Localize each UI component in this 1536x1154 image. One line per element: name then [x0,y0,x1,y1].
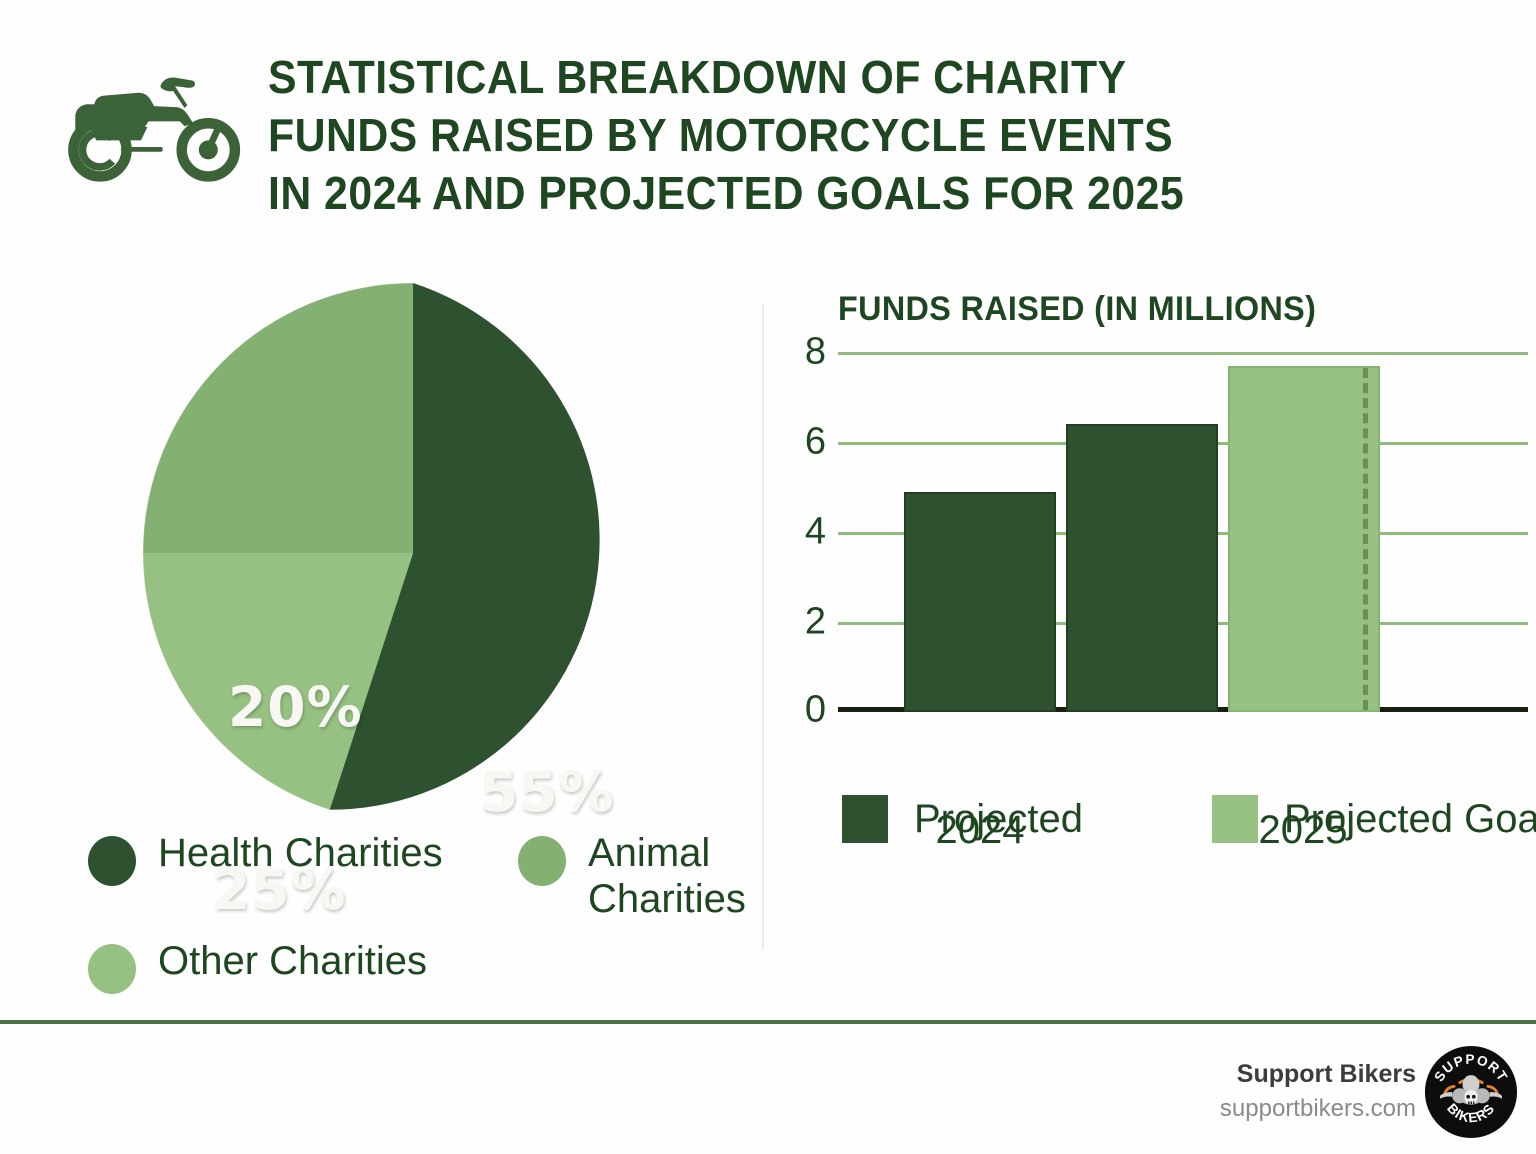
pie-legend-item-health[interactable]: Health Charities [88,830,518,922]
page-title: STATISTICAL BREAKDOWN OF CHARITY FUNDS R… [268,48,1384,222]
brand-url[interactable]: supportbikers.com [1220,1095,1416,1123]
pie-legend-item-animal[interactable]: Animal Charities [518,830,768,922]
bar-chart-panel: FUNDS RAISED (IN MILLIONS) 8 6 4 2 0 202… [762,270,1536,970]
header: STATISTICAL BREAKDOWN OF CHARITY FUNDS R… [0,0,1536,250]
bar-legend-item-projected[interactable]: Projected [842,795,1212,843]
pie-slice-label-health: 55% [480,760,615,824]
y-tick-8: 8 [805,331,826,374]
y-tick-0: 0 [805,689,826,732]
legend-swatch-other-icon [88,944,136,994]
motorcycle-icon [62,68,252,188]
pie-slice-label-animal: 20% [228,675,363,739]
pie-legend-label-other: Other Charities [158,938,427,984]
pie-legend-label-health: Health Charities [158,830,443,876]
pie-chart [143,283,683,823]
pie-legend-row-1: Health Charities Animal Charities [88,830,768,922]
brand-block: Support Bikers supportbikers.com [1220,1060,1416,1123]
bar-2025-projected-goal[interactable] [1228,366,1380,712]
pie-legend: Health Charities Animal Charities Other … [88,830,768,994]
bar-legend-item-projected-goal[interactable]: Projected Goal [1212,795,1536,843]
brand-name: Support Bikers [1220,1060,1416,1089]
y-tick-6: 6 [805,421,826,464]
pie-legend-item-other[interactable]: Other Charities [88,938,518,994]
pie-legend-row-2: Other Charities [88,938,768,994]
legend-swatch-projected-icon [842,795,888,843]
footer: Support Bikers supportbikers.com [0,1024,1536,1154]
bar-legend: Projected Projected Goal [842,795,1536,843]
y-tick-2: 2 [805,601,826,644]
pie-chart-panel: 55% 20% 25% Health Charities Animal Char… [0,270,762,970]
bar-legend-label-projected: Projected [914,797,1083,842]
legend-swatch-animal-icon [518,836,566,886]
legend-swatch-health-icon [88,836,136,886]
legend-swatch-projected-goal-icon [1212,795,1258,843]
bar-goal-dashed-marker [1363,368,1368,710]
support-bikers-logo-icon[interactable]: SUPPORT BIKERS [1424,1045,1518,1139]
bar-legend-label-projected-goal: Projected Goal [1284,797,1536,842]
bar-2025-projected[interactable] [1066,424,1218,712]
bar-2024-projected[interactable] [904,492,1056,712]
bar-chart-plot-area: 8 6 4 2 0 2024 2025 [838,352,1528,712]
bar-chart-title: FUNDS RAISED (IN MILLIONS) [838,290,1316,329]
pie-legend-label-animal: Animal Charities [588,830,746,922]
infographic-page: STATISTICAL BREAKDOWN OF CHARITY FUNDS R… [0,0,1536,1154]
gridline-8 [838,352,1528,355]
y-tick-4: 4 [805,511,826,554]
